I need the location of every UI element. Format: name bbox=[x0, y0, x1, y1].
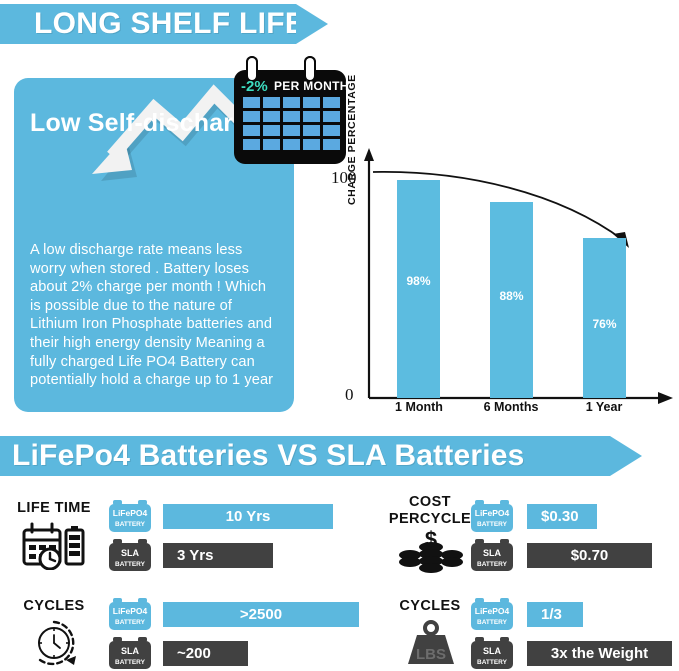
sla-battery-icon: SLA BATTERY bbox=[108, 538, 152, 572]
lifepo4-battery-icon: LiFePO4 BATTERY bbox=[108, 597, 152, 631]
row-title-cycles: CYCLES bbox=[8, 598, 100, 615]
banner-arrow-tip bbox=[296, 4, 328, 44]
chart-bar-value: 98% bbox=[397, 274, 440, 288]
lifepo4-battery-icon: LiFePO4 BATTERY bbox=[470, 597, 514, 631]
row-title-cost-percycle-line1: COST bbox=[375, 494, 485, 511]
battery-label: LiFePO4 bbox=[475, 606, 510, 616]
lifepo4-value-bar-life-time: 10 Yrs bbox=[163, 504, 333, 529]
battery-sublabel: BATTERY bbox=[477, 619, 508, 626]
sla-battery-icon: SLA BATTERY bbox=[470, 538, 514, 572]
sla-battery-icon: SLA BATTERY bbox=[108, 636, 152, 670]
svg-text:$: $ bbox=[425, 529, 437, 552]
banner-body: LiFePo4 Batteries VS SLA Batteries bbox=[0, 436, 610, 476]
calendar-period-text: PER MONTH bbox=[274, 79, 349, 93]
value-text: 10 Yrs bbox=[163, 508, 333, 525]
calendar-rate-text: -2% bbox=[241, 78, 268, 95]
battery-sublabel: BATTERY bbox=[477, 561, 508, 568]
battery-sublabel: BATTERY bbox=[115, 659, 146, 666]
x-axis-tick-label: 1 Month bbox=[378, 400, 460, 414]
battery-label: LiFePO4 bbox=[475, 508, 510, 518]
banner-title: LONG SHELF LIFE bbox=[34, 7, 305, 41]
value-text: 3 Yrs bbox=[163, 547, 273, 564]
x-axis-tick-label: 6 Months bbox=[470, 400, 552, 414]
sla-value-bar-cost: $0.70 bbox=[527, 543, 652, 568]
row-title-cost-percycle-line2: PERCYCLE bbox=[375, 511, 485, 528]
chart-bar-value: 76% bbox=[583, 317, 626, 331]
calendar-battery-clock-icon bbox=[22, 522, 86, 570]
lifepo4-value-bar-cost: $0.30 bbox=[527, 504, 597, 529]
y-axis-min-label: 0 bbox=[345, 385, 354, 405]
calendar-icon: -2% PER MONTH bbox=[232, 52, 350, 168]
banner-body: LONG SHELF LIFE bbox=[0, 4, 296, 44]
banner-title: LiFePo4 Batteries VS SLA Batteries bbox=[12, 439, 525, 473]
battery-label: LiFePO4 bbox=[113, 508, 148, 518]
battery-sublabel: BATTERY bbox=[115, 561, 146, 568]
value-text: $0.30 bbox=[527, 508, 597, 525]
battery-label: SLA bbox=[121, 646, 140, 656]
panel-body-text: A low discharge rate means less worry wh… bbox=[30, 241, 280, 390]
row-title-life-time: LIFE TIME bbox=[8, 500, 100, 517]
banner-arrow-tip bbox=[610, 436, 642, 476]
sla-value-bar-life-time: 3 Yrs bbox=[163, 543, 273, 568]
lifepo4-battery-icon: LiFePO4 BATTERY bbox=[108, 499, 152, 533]
chart-bar bbox=[397, 180, 440, 398]
money-coins-icon: $ bbox=[398, 529, 464, 573]
weight-lbs-icon: LBS bbox=[400, 618, 462, 668]
battery-label: SLA bbox=[483, 548, 502, 558]
lifepo4-value-bar-cycles: >2500 bbox=[163, 602, 359, 627]
value-text: ~200 bbox=[163, 645, 248, 662]
sla-value-bar-cycles: ~200 bbox=[163, 641, 248, 666]
sla-value-bar-weight: 3x the Weight bbox=[527, 641, 672, 666]
sla-battery-icon: SLA BATTERY bbox=[470, 636, 514, 670]
clock-cycle-icon bbox=[28, 618, 80, 668]
battery-sublabel: BATTERY bbox=[115, 521, 146, 528]
battery-sublabel: BATTERY bbox=[477, 521, 508, 528]
value-text: 1/3 bbox=[527, 606, 583, 623]
battery-sublabel: BATTERY bbox=[115, 619, 146, 626]
battery-sublabel: BATTERY bbox=[477, 659, 508, 666]
infographic-canvas: LONG SHELF LIFE Low Self-discharge A low… bbox=[0, 0, 679, 671]
battery-label: SLA bbox=[121, 548, 140, 558]
value-text: 3x the Weight bbox=[527, 645, 672, 662]
lifepo4-battery-icon: LiFePO4 BATTERY bbox=[470, 499, 514, 533]
battery-label: SLA bbox=[483, 646, 502, 656]
banner-long-shelf-life: LONG SHELF LIFE bbox=[0, 4, 328, 44]
weight-icon-text: LBS bbox=[416, 646, 446, 663]
panel-title: Low Self-discharge bbox=[30, 109, 263, 138]
row-title-weight: CYCLES bbox=[375, 598, 485, 615]
battery-label: LiFePO4 bbox=[113, 606, 148, 616]
banner-comparison: LiFePo4 Batteries VS SLA Batteries bbox=[0, 436, 642, 476]
x-axis-tick-label: 1 Year bbox=[563, 400, 645, 414]
lifepo4-value-bar-weight: 1/3 bbox=[527, 602, 583, 627]
chart-bar-value: 88% bbox=[490, 289, 533, 303]
value-text: >2500 bbox=[163, 606, 359, 623]
value-text: $0.70 bbox=[527, 547, 652, 564]
